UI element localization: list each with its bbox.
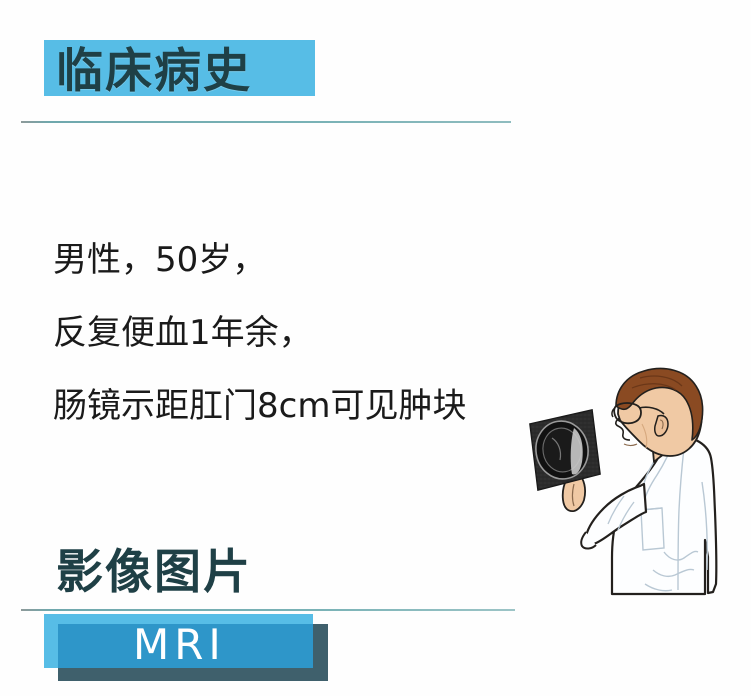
- doctor-figure-group: [530, 369, 716, 594]
- clinical-heading-rule: [21, 121, 511, 123]
- mri-badge-label: MRI: [133, 620, 226, 669]
- imaging-heading-rule: [21, 609, 515, 611]
- clinical-heading-title: 临床病史: [56, 47, 252, 98]
- case-text-line-2: 反复便血1年余，: [53, 305, 313, 354]
- imaging-heading-title: 影像图片: [56, 548, 252, 599]
- doctor-illustration: [512, 362, 751, 696]
- mouth-line: [624, 444, 637, 446]
- case-text-line-3: 肠镜示距肛门8cm可见肿块: [53, 378, 466, 427]
- slide-canvas: 临床病史 男性，50岁， 反复便血1年余， 肠镜示距肛门8cm可见肿块 影像图片…: [0, 0, 751, 696]
- case-text-line-1: 男性，50岁，: [53, 232, 266, 281]
- mri-film: [530, 410, 600, 490]
